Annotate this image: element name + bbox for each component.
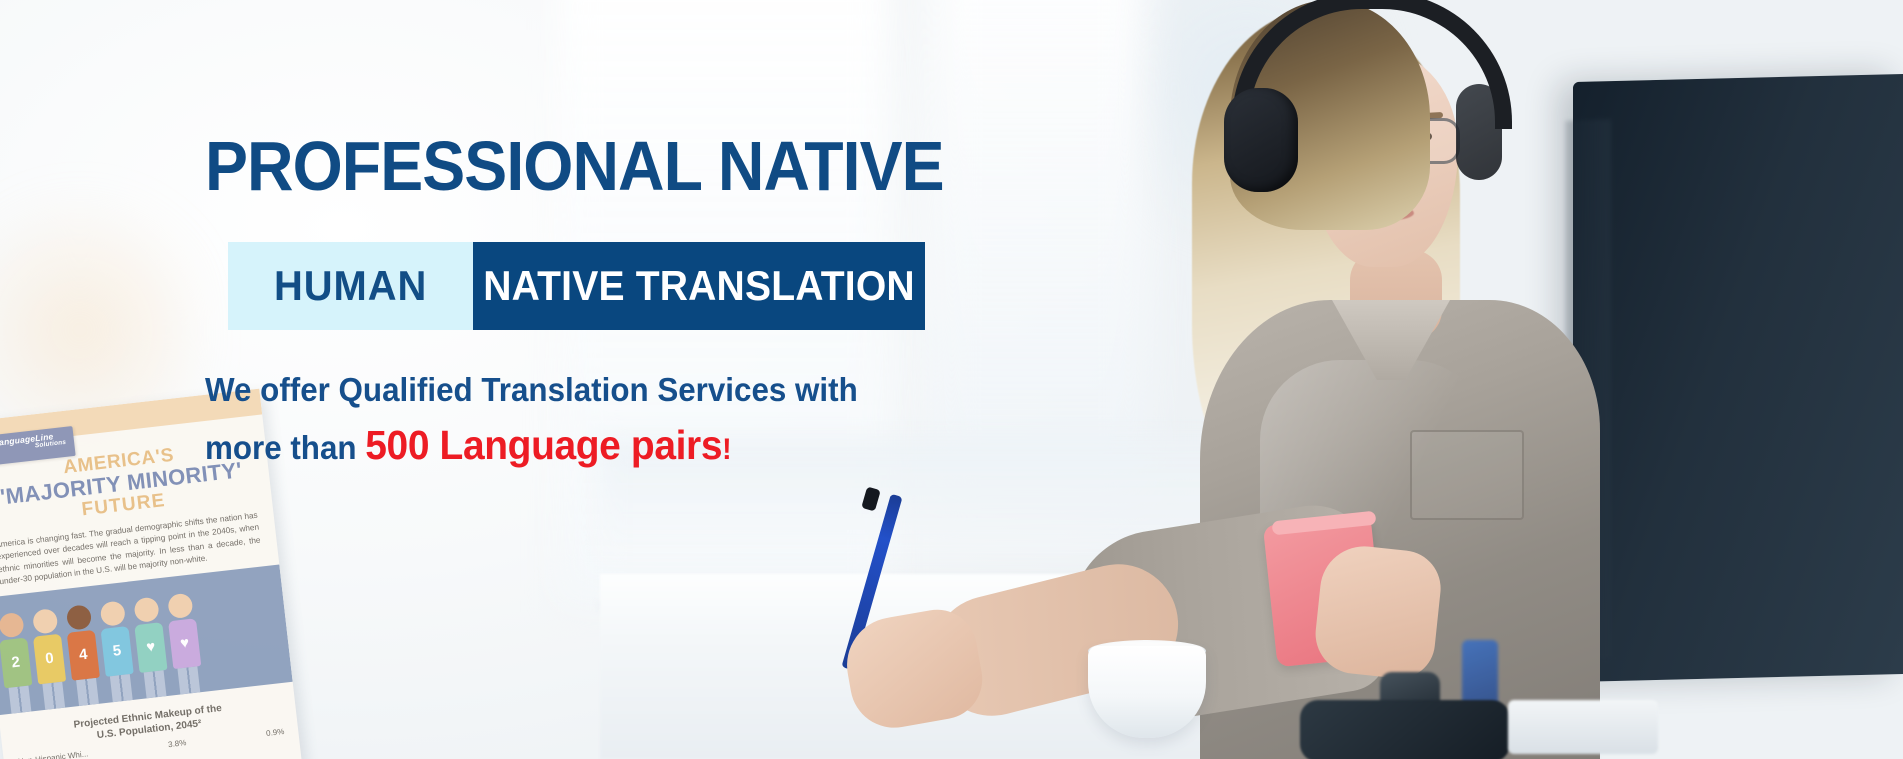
subheadline-highlight: 500 Language pairs [365,422,722,468]
headphone-cup-near [1224,88,1298,192]
shirt-pocket [1410,430,1524,520]
subheadline-line-2: more than 500 Language pairs! [205,412,927,478]
banner-text-content: PROFESSIONAL NATIVE HUMAN NATIVE TRANSLA… [0,0,1100,759]
banner-badge-row: HUMAN NATIVE TRANSLATION [228,242,925,330]
banner-subheadline: We offer Qualified Translation Services … [205,363,927,479]
badge-human: HUMAN [228,242,473,330]
computer-monitor [1573,74,1903,682]
subheadline-line-1: We offer Qualified Translation Services … [205,371,858,408]
badge-native-translation-label: NATIVE TRANSLATION [483,262,915,310]
subheadline-prefix: more than [205,429,365,466]
hero-banner: LanguageLine Solutions AMERICA'S 'MAJORI… [0,0,1903,759]
banner-headline: PROFESSIONAL NATIVE [205,131,944,201]
hand-holding-phone [1312,542,1445,682]
desk-gadget [1300,700,1510,759]
subheadline-exclamation: ! [722,433,732,466]
badge-native-translation: NATIVE TRANSLATION [473,242,925,330]
white-cup [1088,646,1206,738]
badge-human-label: HUMAN [274,262,427,310]
keyboard [1508,700,1658,754]
photo-subject-woman [1080,0,1600,759]
